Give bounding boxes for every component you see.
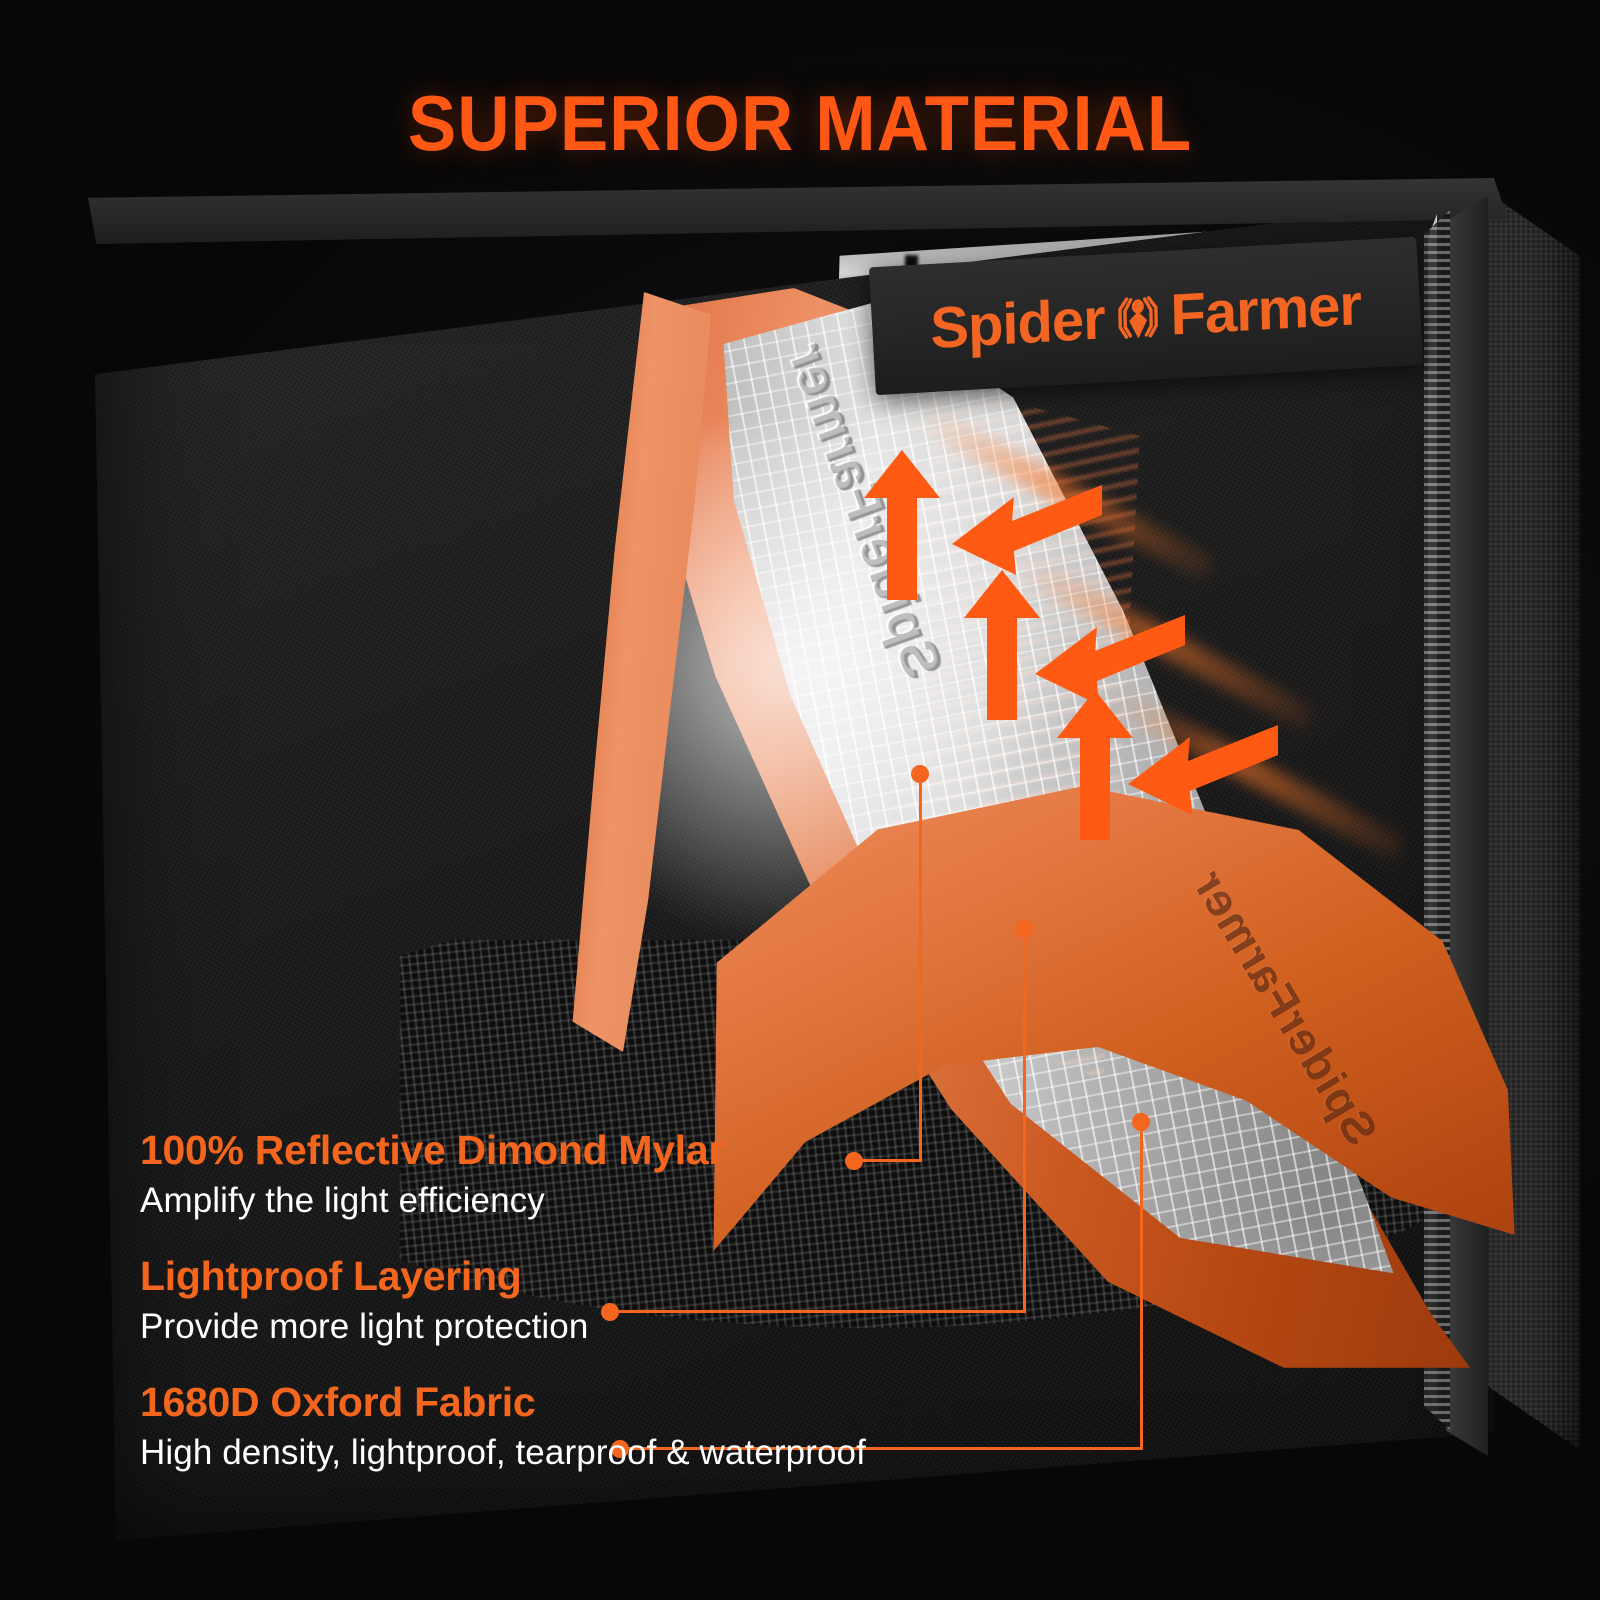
arrow-up-reflected-2 (962, 570, 1042, 720)
brand-logo: Spider Farmer (930, 270, 1362, 361)
leader-v-1 (919, 775, 922, 1161)
feature-title: Lightproof Layering (140, 1254, 522, 1300)
leader-dot-target-2 (1015, 920, 1033, 938)
feature-list: 100% Reflective Dimond Mylar Amplify the… (140, 1128, 1040, 1506)
feature-subtitle: High density, lightproof, tearproof & wa… (140, 1432, 1040, 1474)
feature-subtitle: Provide more light protection (140, 1306, 1040, 1348)
feature-title: 1680D Oxford Fabric (140, 1380, 535, 1426)
logo-word-spider: Spider (930, 285, 1106, 362)
arrow-incoming-3 (1128, 715, 1278, 830)
feature-title: 100% Reflective Dimond Mylar (140, 1128, 724, 1174)
zipper-tape (1424, 210, 1450, 1430)
arrow-up-reflected-1 (862, 450, 942, 600)
arrow-incoming-1 (952, 475, 1102, 590)
arrow-incoming-2 (1035, 605, 1185, 720)
feature-subtitle: Amplify the light efficiency (140, 1180, 1040, 1222)
leader-dot-target-3 (1132, 1113, 1150, 1131)
leader-v-3 (1140, 1123, 1143, 1450)
feature-item-mylar: 100% Reflective Dimond Mylar Amplify the… (140, 1128, 1040, 1222)
feature-item-oxford: 1680D Oxford Fabric High density, lightp… (140, 1380, 1040, 1474)
leader-dot-target-1 (911, 765, 929, 783)
spider-icon (1106, 284, 1169, 349)
feature-item-lightproof: Lightproof Layering Provide more light p… (140, 1254, 1040, 1348)
tent-right-frame-edge (1446, 196, 1488, 1456)
logo-word-farmer: Farmer (1170, 270, 1362, 348)
product-feature-graphic: SUPERIOR MATERIAL SpiderFarmer (0, 0, 1600, 1600)
